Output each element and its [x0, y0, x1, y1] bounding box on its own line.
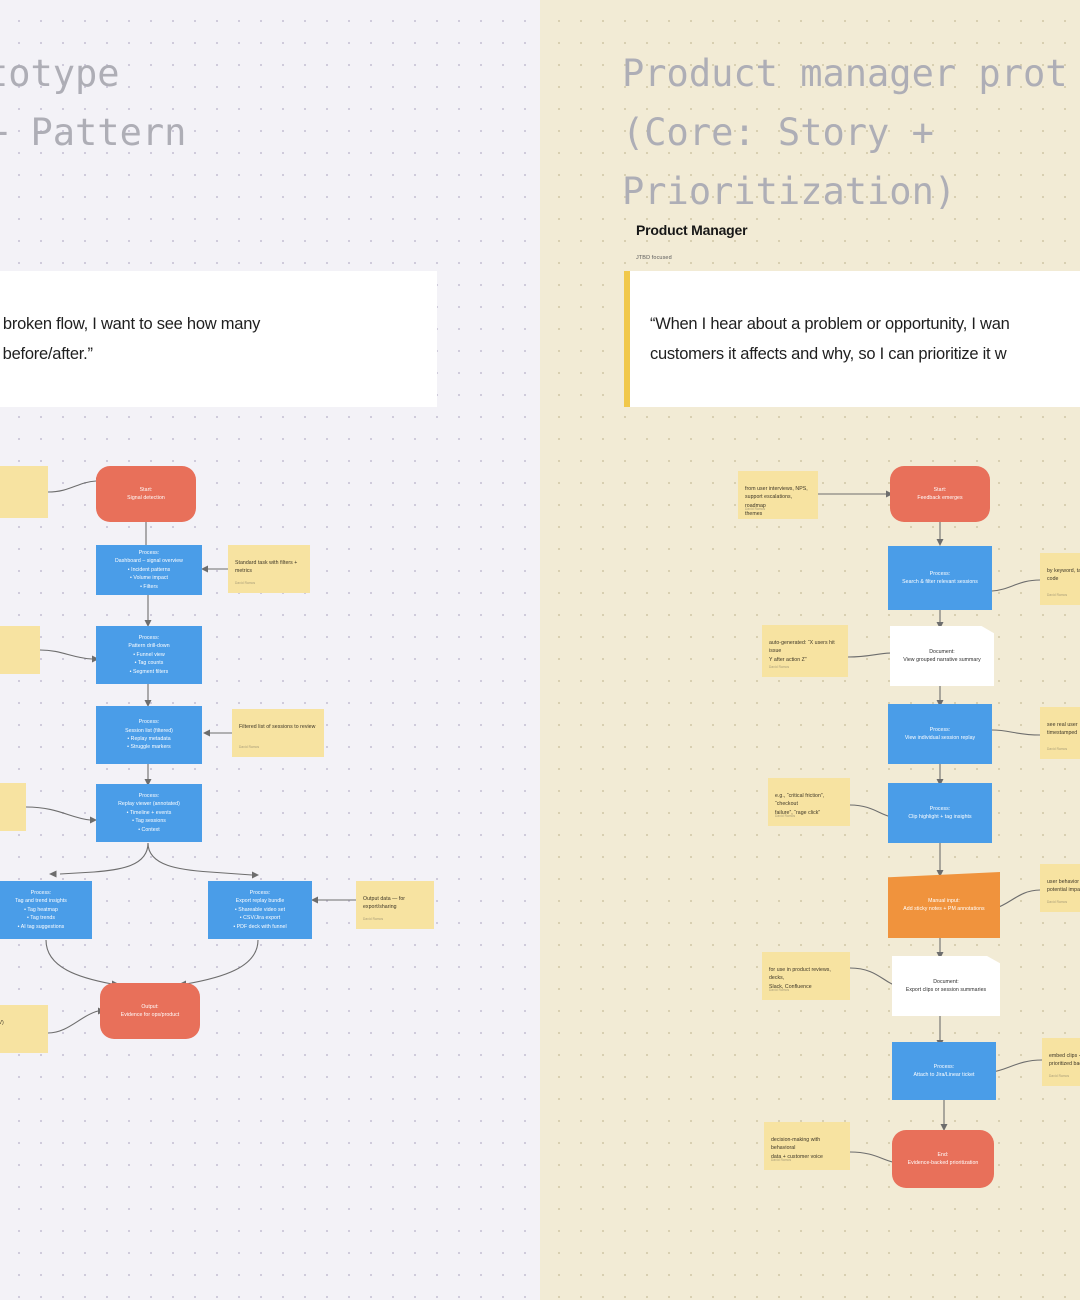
flow-node-start[interactable]: Start: Signal detection: [96, 466, 196, 522]
flow-node-label: Process: Replay viewer (annotated) • Tim…: [114, 790, 184, 836]
sticky-author: David Ramos: [1047, 591, 1067, 599]
sticky-author: David Ramos: [771, 1156, 791, 1164]
flow-node-process[interactable]: Process: Export replay bundle • Shareabl…: [208, 881, 312, 939]
sticky-text: by keyword, tag code: [1047, 568, 1080, 582]
flow-node-process[interactable]: Process: Dashboard – signal overview • I…: [96, 545, 202, 595]
sticky-note[interactable]: embed clips + su prioritized backlo Davi…: [1042, 1038, 1080, 1086]
sticky-text: user behavior insight + potential impact: [1047, 879, 1080, 893]
flow-node-process[interactable]: Process: Replay viewer (annotated) • Tim…: [96, 784, 202, 842]
sticky-note[interactable]: Output data — for export/sharing David R…: [356, 881, 434, 929]
sticky-note[interactable]: Filtered list of sessions to review Davi…: [232, 709, 324, 757]
flow-node-process[interactable]: Process: Pattern drill-down • Funnel vie…: [96, 626, 202, 684]
flow-node-process[interactable]: Process: Attach to Jira/Linear ticket: [892, 1042, 996, 1100]
flow-node-label: Process: Clip highlight + tag insights: [904, 803, 975, 824]
flow-node-label: Process: Pattern drill-down • Funnel vie…: [124, 632, 173, 678]
flow-node-label: Process: Export replay bundle • Shareabl…: [229, 887, 290, 933]
sticky-note[interactable]: e.g., “critical friction”, “checkout fai…: [768, 778, 850, 826]
flow-node-label: Process: Tag and trend insights • Tag he…: [11, 887, 71, 933]
persona-quote-card-left[interactable]: ack about a broken flow, I want to see h…: [0, 271, 437, 407]
sticky-author: David Ramos: [775, 812, 795, 820]
sticky-text: auto-generated: “X users hit issue Y aft…: [769, 640, 835, 662]
sticky-note[interactable]: nable (PDF/CSV) David Ramos: [0, 1005, 48, 1053]
sticky-author: David Ramos: [363, 915, 383, 923]
sticky-note[interactable]: by keyword, tag code David Ramos: [1040, 553, 1080, 605]
sticky-author: David Ramos: [239, 743, 259, 751]
flow-node-label: Output: Evidence for ops/product: [117, 1001, 184, 1022]
sticky-author: David Ramos: [1047, 898, 1067, 906]
flow-node-process[interactable]: Process: Search & filter relevant sessio…: [888, 546, 992, 610]
flow-node-label: Process: Attach to Jira/Linear ticket: [909, 1061, 978, 1082]
sticky-note[interactable]: user behavior insight + potential impact…: [1040, 864, 1080, 912]
board-panel-left[interactable]: yst prototype Signal + Pattern on) CX An…: [0, 0, 540, 1300]
flow-node-label: Process: View individual session replay: [901, 724, 979, 745]
flow-node-label: Process: Dashboard – signal overview • I…: [111, 547, 187, 593]
flow-node-start[interactable]: Start: Feedback emerges: [890, 466, 990, 522]
flow-node-label: Start: Signal detection: [123, 484, 169, 505]
sticky-text: see real user timestamped: [1047, 722, 1078, 736]
flow-node-process[interactable]: Process: View individual session replay: [888, 704, 992, 764]
board-title-left: yst prototype Signal + Pattern on): [0, 44, 186, 221]
sticky-note[interactable]: Standard task with filters + metrics Dav…: [228, 545, 310, 593]
persona-quote-text-right: “When I hear about a problem or opportun…: [630, 309, 1030, 369]
sticky-author: David Ramos: [1047, 745, 1067, 753]
sticky-text: Output data — for export/sharing: [363, 896, 405, 910]
flow-node-document[interactable]: Document: View grouped narrative summary: [890, 626, 994, 686]
flow-node-output[interactable]: Output: Evidence for ops/product: [100, 983, 200, 1039]
sticky-author: David Ramos: [235, 579, 255, 587]
flow-node-label: Document: Export clips or session summar…: [902, 976, 990, 997]
persona-quote-card-right[interactable]: “When I hear about a problem or opportun…: [624, 271, 1080, 407]
flow-node-label: Document: View grouped narrative summary: [899, 646, 985, 667]
sticky-text: Standard task with filters + metrics: [235, 560, 297, 574]
sticky-note[interactable]: yback & David Ramos: [0, 783, 26, 831]
persona-name-right: Product Manager: [636, 222, 747, 238]
flow-node-label: Manual input: Add sticky notes + PM anno…: [899, 895, 988, 916]
flow-node-label: Process: Session list (filtered) • Repla…: [121, 716, 177, 754]
persona-subtitle-right: JTBD focused: [636, 255, 672, 261]
sticky-text: nable (PDF/CSV): [0, 1020, 4, 1026]
flow-node-label: Process: Search & filter relevant sessio…: [898, 568, 982, 589]
sticky-note[interactable]: decision-making with behavioral data + c…: [764, 1122, 850, 1170]
sticky-text: embed clips + su prioritized backlo: [1049, 1053, 1080, 1067]
sticky-author: David Ramos: [1049, 1072, 1069, 1080]
flow-node-label: Start: Feedback emerges: [913, 484, 966, 505]
flow-node-end[interactable]: End: Evidence-backed prioritization: [892, 1130, 994, 1188]
flow-node-manual-input[interactable]: Manual input: Add sticky notes + PM anno…: [888, 872, 1000, 938]
flow-node-label: End: Evidence-backed prioritization: [904, 1149, 983, 1170]
persona-quote-text-left: ack about a broken flow, I want to see h…: [0, 309, 280, 369]
sticky-author: David Ramos: [769, 663, 789, 671]
sticky-note[interactable]: from user interviews, NPS, support escal…: [738, 471, 818, 519]
sticky-note[interactable]: for use in product reviews, decks, Slack…: [762, 952, 850, 1000]
sticky-note[interactable]: into CX Replay David Ramos: [0, 466, 48, 518]
sticky-note[interactable]: see real user timestamped David Ramos: [1040, 707, 1080, 759]
flow-node-process[interactable]: Process: Tag and trend insights • Tag he…: [0, 881, 92, 939]
sticky-text: Filtered list of sessions to review: [239, 724, 315, 730]
flow-node-process[interactable]: Process: Clip highlight + tag insights: [888, 783, 992, 843]
board-title-right: Product manager prot (Core: Story + Prio…: [622, 44, 1068, 221]
flow-node-process[interactable]: Process: Session list (filtered) • Repla…: [96, 706, 202, 764]
sticky-note[interactable]: auto-generated: “X users hit issue Y aft…: [762, 625, 848, 677]
sticky-author: David Ramos: [745, 505, 765, 513]
canvas-stage: yst prototype Signal + Pattern on) CX An…: [0, 0, 1080, 1300]
sticky-note[interactable]: s David Ramos: [0, 626, 40, 674]
board-panel-right[interactable]: Product manager prot (Core: Story + Prio…: [540, 0, 1080, 1300]
sticky-author: David Ramos: [769, 986, 789, 994]
flow-node-document[interactable]: Document: Export clips or session summar…: [892, 956, 1000, 1016]
